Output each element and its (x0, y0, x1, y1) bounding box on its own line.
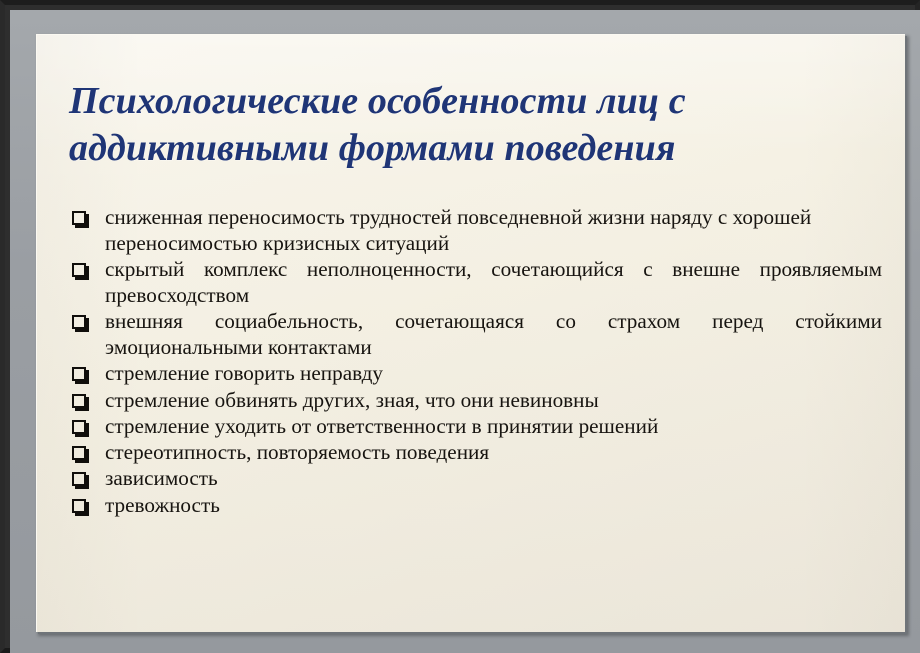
list-item: скрытый комплекс неполноценности, сочета… (43, 257, 905, 309)
list-item: стремление говорить неправду (43, 361, 905, 387)
list-item: зависимость (43, 466, 905, 492)
hollow-square-checkbox-icon (72, 211, 86, 225)
list-item-label: зависимость (105, 466, 882, 492)
list-item: внешняя социабельность, сочетающаяся со … (43, 309, 905, 361)
list-item: тревожность (43, 493, 905, 519)
list-item-label: внешняя социабельность, сочетающаяся со … (105, 309, 882, 361)
hollow-square-checkbox-icon (72, 367, 86, 381)
slide-mat-border: Психологические особенности лиц с аддикт… (10, 10, 920, 653)
slide-outer-frame: Психологические особенности лиц с аддикт… (0, 0, 920, 653)
slide-canvas: Психологические особенности лиц с аддикт… (36, 34, 905, 632)
bullet-list: сниженная переносимость трудностей повсе… (43, 205, 905, 519)
list-item: стремление уходить от ответственности в … (43, 414, 905, 440)
list-item-label: стремление обвинять других, зная, что он… (105, 388, 882, 414)
page-title: Психологические особенности лиц с аддикт… (69, 78, 749, 171)
hollow-square-checkbox-icon (72, 446, 86, 460)
hollow-square-checkbox-icon (72, 394, 86, 408)
list-item-label: скрытый комплекс неполноценности, сочета… (105, 257, 882, 309)
list-item: сниженная переносимость трудностей повсе… (43, 205, 905, 257)
list-item-label: тревожность (105, 493, 882, 519)
list-item-label: стремление уходить от ответственности в … (105, 414, 882, 440)
list-item-label: стереотипность, повторяемость поведения (105, 440, 882, 466)
hollow-square-checkbox-icon (72, 263, 86, 277)
list-item-label: стремление говорить неправду (105, 361, 882, 387)
hollow-square-checkbox-icon (72, 499, 86, 513)
list-item: стереотипность, повторяемость поведения (43, 440, 905, 466)
hollow-square-checkbox-icon (72, 315, 86, 329)
list-item-label: сниженная переносимость трудностей повсе… (105, 205, 882, 257)
hollow-square-checkbox-icon (72, 420, 86, 434)
list-item: стремление обвинять других, зная, что он… (43, 388, 905, 414)
hollow-square-checkbox-icon (72, 472, 86, 486)
